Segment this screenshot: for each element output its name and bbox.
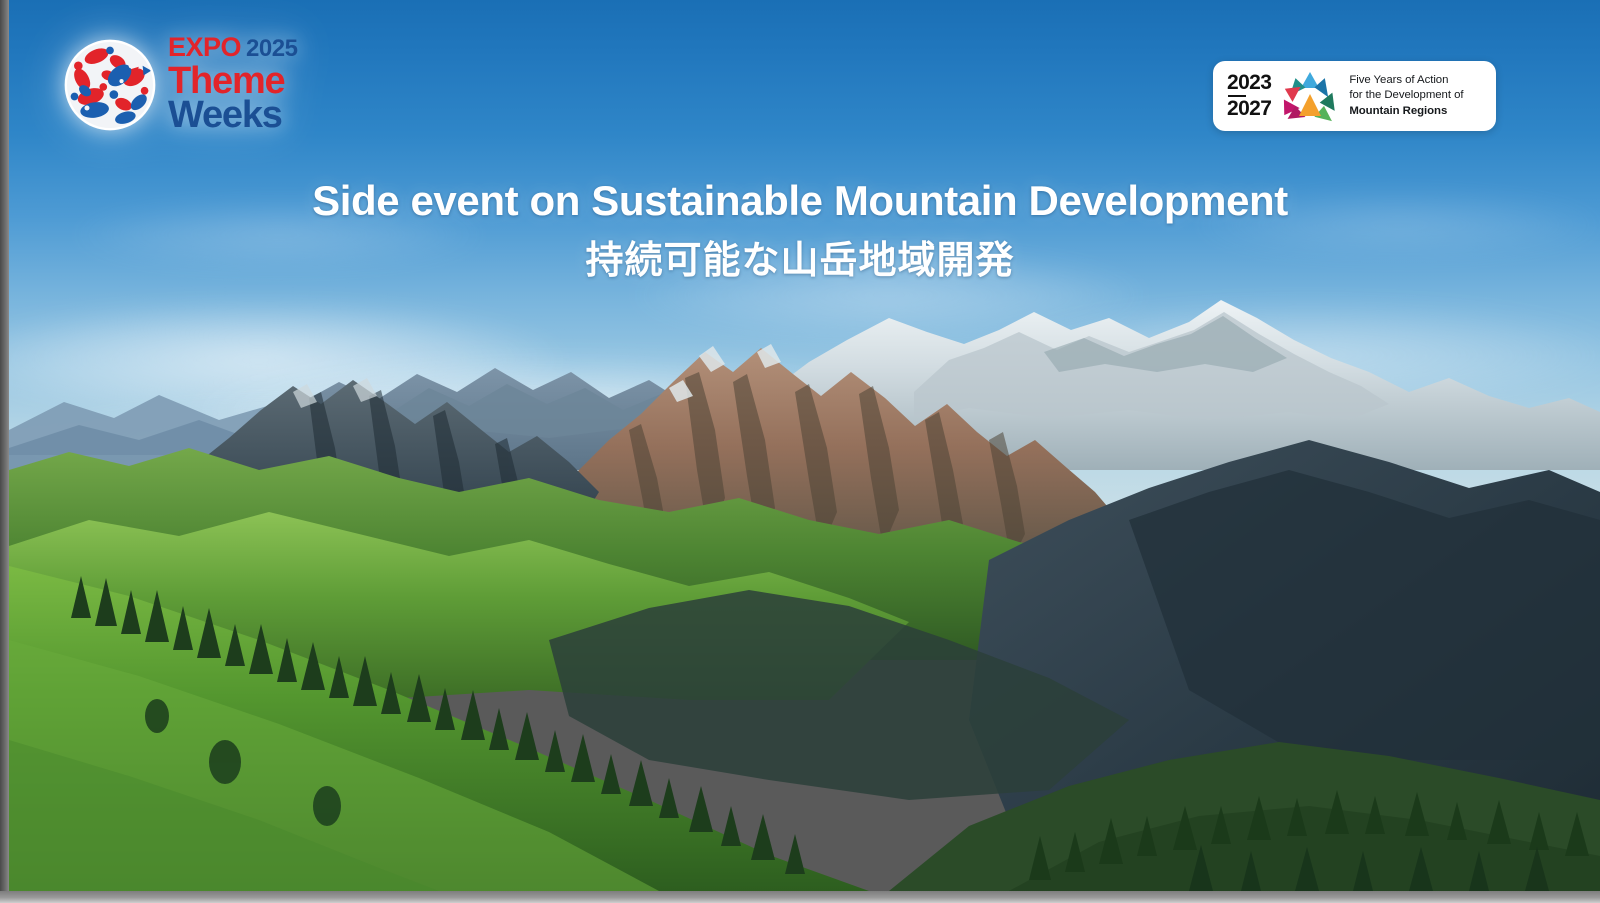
left-edge-gutter <box>0 0 9 903</box>
badge-year-start: 2023 <box>1227 71 1271 94</box>
weeks-text: Weeks <box>168 96 297 134</box>
five-years-of-action-badge: 2023 2027 Five Years of Action for the D… <box>1213 61 1496 131</box>
badge-caption: Five Years of Action for the Development… <box>1349 73 1484 118</box>
badge-line-3: Mountain Regions <box>1349 104 1484 119</box>
expo-year-text: 2025 <box>246 37 297 61</box>
mountain-peaks-star-icon <box>1279 68 1341 124</box>
title-block: Side event on Sustainable Mountain Devel… <box>0 178 1600 284</box>
main-title: Side event on Sustainable Mountain Devel… <box>0 178 1600 224</box>
japanese-subtitle: 持続可能な山岳地域開発 <box>0 240 1600 284</box>
presentation-slide: EXPO 2025 Theme Weeks 2023 2027 <box>0 0 1600 903</box>
badge-year-end: 2027 <box>1227 97 1271 120</box>
bottom-edge-gutter <box>0 891 1600 903</box>
expo-wordmark: EXPO 2025 Theme Weeks <box>168 34 297 136</box>
badge-line-1: Five Years of Action <box>1349 73 1484 88</box>
expo-2025-globe-icon <box>62 37 158 133</box>
expo-theme-weeks-logo: EXPO 2025 Theme Weeks <box>62 34 297 136</box>
expo-text: EXPO <box>168 34 241 61</box>
badge-line-2: for the Development of <box>1349 88 1484 103</box>
badge-year-range: 2023 2027 <box>1227 72 1271 119</box>
